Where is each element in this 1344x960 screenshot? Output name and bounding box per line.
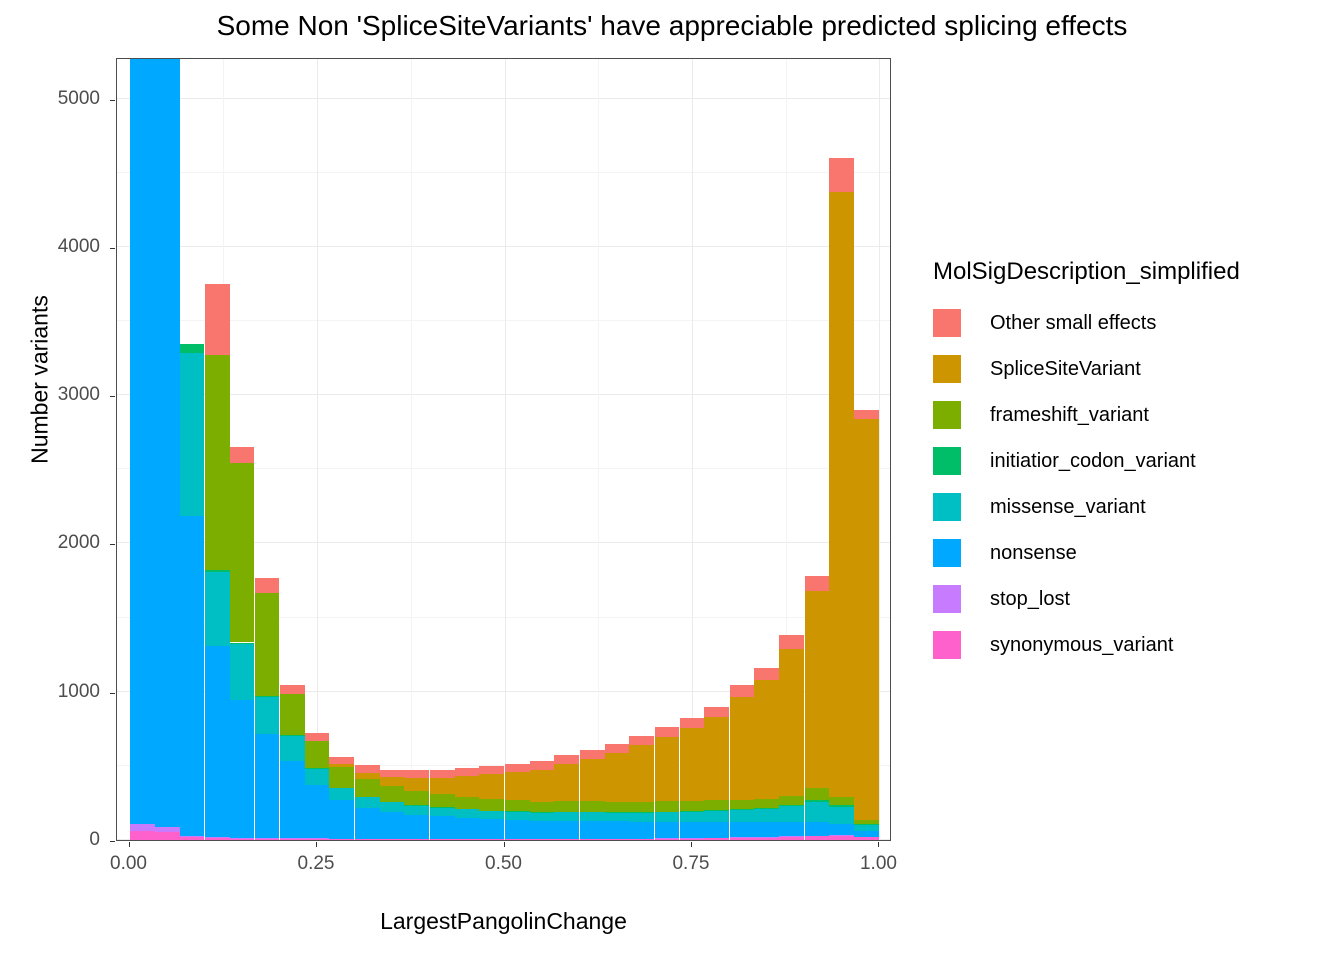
- legend-color-swatch-icon: [933, 493, 961, 521]
- bar-segment-synonymous-variant: [255, 839, 280, 840]
- plot-panel: [116, 58, 891, 841]
- legend-color-swatch-icon: [933, 631, 961, 659]
- bar-segment-stop-lost: [155, 827, 180, 831]
- bar-segment-synonymous-variant: [404, 839, 429, 840]
- bar-segment-synonymous-variant: [180, 837, 205, 840]
- bar-segment-initiatior-codon-variant: [754, 808, 779, 809]
- bar-segment-missense-variant: [205, 572, 230, 646]
- bar-segment-frameshift-variant: [754, 799, 779, 808]
- legend: MolSigDescription_simplified Other small…: [933, 258, 1333, 668]
- bar-segment-other small effects: [305, 733, 330, 742]
- bar-segment-frameshift-variant: [455, 797, 480, 809]
- legend-item[interactable]: stop_lost: [933, 576, 1333, 622]
- bar-segment-missense-variant: [329, 788, 354, 800]
- bar-segment-frameshift-variant: [305, 741, 330, 768]
- y-tick-mark: [110, 100, 115, 101]
- bar-segment-frameshift-variant: [255, 593, 280, 697]
- bar-segment-frameshift-variant: [805, 788, 830, 800]
- bar-segment-splicesitevariant: [554, 764, 579, 801]
- bar-segment-frameshift-variant: [829, 797, 854, 805]
- bar-segment-missense-variant: [255, 697, 280, 734]
- bar-segment-frameshift-variant: [404, 791, 429, 805]
- bar-segment-frameshift-variant: [280, 694, 305, 736]
- bar-segment-missense-variant: [230, 644, 255, 700]
- x-tick-label: 0.00: [89, 853, 169, 875]
- bar-segment-other small effects: [704, 707, 729, 717]
- bar-segment-nonsense: [329, 800, 354, 839]
- histogram-bar: [380, 770, 405, 840]
- bar-segment-other small effects: [779, 635, 804, 650]
- bar-segment-synonymous-variant: [554, 839, 579, 840]
- bar-segment-nonsense: [779, 822, 804, 836]
- bar-segment-missense-variant: [455, 809, 480, 818]
- bar-segment-synonymous-variant: [305, 839, 330, 840]
- bar-segment-nonsense: [730, 822, 755, 838]
- bar-segment-splicesitevariant: [779, 649, 804, 796]
- y-tick-label: 2000: [22, 532, 100, 554]
- bar-segment-synonymous-variant: [530, 839, 555, 840]
- bar-segment-other small effects: [829, 158, 854, 192]
- bar-segment-synonymous-variant: [580, 839, 605, 840]
- histogram-bar: [430, 770, 455, 840]
- bar-segment-synonymous-variant: [205, 838, 230, 840]
- bar-segment-missense-variant: [680, 812, 705, 822]
- bar-segment-frameshift-variant: [605, 802, 630, 812]
- bar-segment-synonymous-variant: [655, 839, 680, 840]
- bar-segment-synonymous-variant: [805, 836, 830, 840]
- bar-segment-missense-variant: [530, 813, 555, 821]
- bar-segment-nonsense: [355, 808, 380, 839]
- bar-segment-frameshift-variant: [430, 794, 455, 807]
- bar-segment-frameshift-variant: [655, 801, 680, 811]
- bar-segment-nonsense: [505, 820, 530, 839]
- bar-segment-other small effects: [380, 770, 405, 777]
- y-tick-label: 0: [22, 829, 100, 851]
- histogram-bar: [530, 761, 555, 840]
- bar-segment-splicesitevariant: [829, 192, 854, 797]
- legend-color-swatch-icon: [933, 539, 961, 567]
- bar-segment-frameshift-variant: [629, 802, 654, 812]
- bar-segment-nonsense: [455, 818, 480, 839]
- bar-segment-missense-variant: [404, 806, 429, 815]
- legend-item-label: initiatior_codon_variant: [990, 450, 1196, 473]
- y-tick-label: 5000: [22, 88, 100, 110]
- bar-segment-other small effects: [505, 764, 530, 772]
- bar-segment-synonymous-variant: [704, 838, 729, 840]
- legend-item[interactable]: missense_variant: [933, 484, 1333, 530]
- legend-item-label: synonymous_variant: [990, 634, 1173, 657]
- legend-item[interactable]: nonsense: [933, 530, 1333, 576]
- bar-segment-frameshift-variant: [704, 800, 729, 809]
- bar-segment-splicesitevariant: [605, 753, 630, 802]
- bar-segment-missense-variant: [829, 807, 854, 825]
- histogram-bar: [554, 755, 579, 840]
- bar-segment-synonymous-variant: [605, 839, 630, 840]
- bar-segment-splicesitevariant: [479, 774, 504, 798]
- y-tick-mark: [110, 396, 115, 397]
- bar-segment-initiatior-codon-variant: [854, 824, 879, 825]
- bar-segment-nonsense: [130, 58, 155, 824]
- bar-segment-splicesitevariant: [805, 591, 830, 788]
- bar-segment-frameshift-variant: [230, 463, 255, 642]
- bar-segment-splicesitevariant: [530, 770, 555, 802]
- bar-segment-splicesitevariant: [455, 776, 480, 797]
- bar-segment-splicesitevariant: [505, 772, 530, 800]
- bar-segment-nonsense: [580, 821, 605, 838]
- bar-segment-other small effects: [655, 727, 680, 737]
- histogram-bar: [779, 635, 804, 840]
- bar-segment-initiatior-codon-variant: [730, 809, 755, 810]
- bar-segment-synonymous-variant: [754, 838, 779, 840]
- bar-segment-initiatior-codon-variant: [805, 800, 830, 801]
- bar-segment-splicesitevariant: [854, 419, 879, 819]
- histogram-bar: [180, 344, 205, 840]
- bar-segment-missense-variant: [854, 825, 879, 831]
- bar-segment-splicesitevariant: [404, 778, 429, 791]
- legend-item-label: frameshift_variant: [990, 404, 1149, 427]
- bar-segment-frameshift-variant: [580, 801, 605, 811]
- histogram-bar: [605, 744, 630, 840]
- bar-segment-missense-variant: [779, 806, 804, 822]
- bar-segment-nonsense: [180, 516, 205, 836]
- x-axis-label: LargestPangolinChange: [116, 908, 891, 935]
- bar-segment-other small effects: [255, 578, 280, 593]
- bar-segment-splicesitevariant: [355, 773, 380, 779]
- bar-segment-nonsense: [280, 761, 305, 838]
- bar-segment-missense-variant: [305, 769, 330, 785]
- bar-segment-other small effects: [530, 761, 555, 770]
- bar-segment-nonsense: [704, 822, 729, 838]
- bar-segment-frameshift-variant: [854, 820, 879, 824]
- bar-segment-missense-variant: [580, 812, 605, 821]
- bar-segment-missense-variant: [380, 802, 405, 812]
- bar-segment-nonsense: [205, 646, 230, 837]
- histogram-bar: [479, 766, 504, 840]
- bar-segment-other small effects: [430, 770, 455, 777]
- bar-segment-frameshift-variant: [505, 800, 530, 811]
- bar-series-container: [117, 59, 890, 840]
- bar-segment-other small effects: [629, 736, 654, 746]
- y-tick-mark: [110, 544, 115, 545]
- bar-segment-frameshift-variant: [205, 355, 230, 570]
- legend-color-swatch-icon: [933, 447, 961, 475]
- legend-items: Other small effectsSpliceSiteVariantfram…: [933, 300, 1333, 668]
- histogram-bar: [255, 578, 280, 840]
- bar-segment-synonymous-variant: [280, 839, 305, 840]
- bar-segment-frameshift-variant: [380, 786, 405, 802]
- bar-segment-other small effects: [805, 576, 830, 591]
- bar-segment-initiatior-codon-variant: [230, 643, 255, 644]
- bar-segment-other small effects: [854, 410, 879, 419]
- bar-segment-nonsense: [829, 824, 854, 834]
- legend-color-swatch-icon: [933, 585, 961, 613]
- bar-segment-other small effects: [680, 718, 705, 728]
- legend-color-swatch-icon: [933, 355, 961, 383]
- bar-segment-synonymous-variant: [155, 832, 180, 840]
- bar-segment-initiatior-codon-variant: [255, 696, 280, 697]
- bar-segment-synonymous-variant: [854, 837, 879, 840]
- x-tick-mark: [878, 842, 879, 847]
- y-tick-mark: [110, 841, 115, 842]
- histogram-bar: [505, 764, 530, 840]
- histogram-bar: [730, 685, 755, 840]
- histogram-bar: [629, 736, 654, 840]
- legend-item-label: Other small effects: [990, 312, 1156, 335]
- bar-segment-nonsense: [754, 822, 779, 837]
- bar-segment-splicesitevariant: [580, 759, 605, 801]
- bar-segment-other small effects: [355, 765, 380, 772]
- bar-segment-other small effects: [554, 755, 579, 764]
- histogram-bar: [205, 284, 230, 840]
- bar-segment-other small effects: [329, 757, 354, 764]
- bar-segment-synonymous-variant: [455, 839, 480, 840]
- y-tick-mark: [110, 248, 115, 249]
- bar-segment-nonsense: [854, 831, 879, 837]
- histogram-bar: [854, 410, 879, 840]
- bar-segment-splicesitevariant: [704, 717, 729, 800]
- legend-item[interactable]: synonymous_variant: [933, 622, 1333, 668]
- bar-segment-synonymous-variant: [329, 839, 354, 840]
- bar-segment-missense-variant: [479, 811, 504, 819]
- bar-segment-splicesitevariant: [430, 778, 455, 794]
- bar-segment-missense-variant: [430, 808, 455, 817]
- histogram-bar: [130, 58, 155, 840]
- legend-item-label: SpliceSiteVariant: [990, 358, 1141, 381]
- bar-segment-synonymous-variant: [779, 837, 804, 840]
- bar-segment-missense-variant: [754, 809, 779, 823]
- bar-segment-synonymous-variant: [430, 839, 455, 840]
- bar-segment-synonymous-variant: [680, 839, 705, 840]
- bar-segment-stop-lost: [829, 835, 854, 836]
- bar-segment-initiatior-codon-variant: [779, 805, 804, 806]
- bar-segment-missense-variant: [505, 812, 530, 820]
- bar-segment-missense-variant: [629, 813, 654, 822]
- bar-segment-missense-variant: [805, 802, 830, 823]
- bar-segment-splicesitevariant: [380, 777, 405, 786]
- bar-segment-nonsense: [805, 822, 830, 835]
- bar-segment-nonsense: [605, 821, 630, 838]
- bar-segment-stop-lost: [130, 824, 155, 831]
- bar-segment-other small effects: [580, 750, 605, 759]
- bar-segment-nonsense: [655, 822, 680, 838]
- bar-segment-synonymous-variant: [380, 839, 405, 840]
- x-tick-label: 0.25: [276, 853, 356, 875]
- bar-segment-other small effects: [730, 685, 755, 697]
- histogram-bar: [305, 733, 330, 841]
- bar-segment-nonsense: [255, 734, 280, 838]
- legend-item[interactable]: initiatior_codon_variant: [933, 438, 1333, 484]
- bar-segment-frameshift-variant: [779, 796, 804, 805]
- bar-segment-synonymous-variant: [829, 836, 854, 840]
- x-tick-label: 1.00: [838, 853, 918, 875]
- bar-segment-synonymous-variant: [230, 839, 255, 840]
- bar-segment-initiatior-codon-variant: [829, 805, 854, 807]
- bar-segment-synonymous-variant: [355, 839, 380, 840]
- bar-segment-nonsense: [380, 812, 405, 839]
- legend-item[interactable]: Other small effects: [933, 300, 1333, 346]
- y-axis-label: Number variants: [27, 250, 54, 510]
- bar-segment-splicesitevariant: [754, 680, 779, 799]
- x-tick-label: 0.50: [464, 853, 544, 875]
- bar-segment-missense-variant: [730, 810, 755, 822]
- legend-item-label: stop_lost: [990, 588, 1070, 611]
- histogram-bar: [580, 750, 605, 840]
- legend-title: MolSigDescription_simplified: [933, 258, 1333, 286]
- histogram-bar: [655, 727, 680, 840]
- histogram-bar: [230, 447, 255, 840]
- histogram-bar: [455, 768, 480, 840]
- x-tick-mark: [691, 842, 692, 847]
- bar-segment-missense-variant: [655, 812, 680, 822]
- histogram-bar: [805, 576, 830, 840]
- bar-segment-other small effects: [455, 768, 480, 776]
- x-tick-label: 0.75: [651, 853, 731, 875]
- bar-segment-nonsense: [430, 816, 455, 838]
- histogram-bar: [704, 707, 729, 840]
- bar-segment-nonsense: [155, 59, 180, 827]
- bar-segment-synonymous-variant: [505, 839, 530, 840]
- histogram-bar: [754, 668, 779, 840]
- bar-segment-missense-variant: [355, 797, 380, 807]
- histogram-bar: [280, 685, 305, 840]
- bar-segment-other small effects: [479, 766, 504, 774]
- bar-segment-missense-variant: [280, 736, 305, 761]
- bar-segment-nonsense: [530, 821, 555, 839]
- bar-segment-frameshift-variant: [680, 801, 705, 811]
- legend-item-label: missense_variant: [990, 496, 1146, 519]
- page-title: Some Non 'SpliceSiteVariants' have appre…: [0, 10, 1344, 42]
- bar-segment-frameshift-variant: [554, 801, 579, 811]
- legend-item[interactable]: SpliceSiteVariant: [933, 346, 1333, 392]
- histogram-bar: [155, 59, 180, 840]
- legend-color-swatch-icon: [933, 401, 961, 429]
- bar-segment-stop-lost: [180, 836, 205, 837]
- bar-segment-synonymous-variant: [629, 839, 654, 840]
- legend-item[interactable]: frameshift_variant: [933, 392, 1333, 438]
- bar-segment-frameshift-variant: [730, 800, 755, 809]
- bar-segment-synonymous-variant: [479, 839, 504, 840]
- bar-segment-other small effects: [754, 668, 779, 681]
- bar-segment-splicesitevariant: [655, 737, 680, 802]
- x-tick-mark: [504, 842, 505, 847]
- histogram-bar: [355, 765, 380, 840]
- bar-segment-nonsense: [554, 821, 579, 839]
- bar-segment-initiatior-codon-variant: [205, 570, 230, 572]
- bar-segment-other small effects: [230, 447, 255, 463]
- bar-segment-nonsense: [305, 785, 330, 838]
- histogram-bar: [329, 757, 354, 840]
- bar-segment-frameshift-variant: [329, 767, 354, 788]
- x-tick-mark: [129, 842, 130, 847]
- bar-segment-missense-variant: [554, 812, 579, 820]
- y-tick-mark: [110, 693, 115, 694]
- bar-segment-splicesitevariant: [730, 697, 755, 799]
- bar-segment-nonsense: [629, 822, 654, 839]
- bar-segment-frameshift-variant: [355, 779, 380, 797]
- histogram-bar: [829, 158, 854, 840]
- bar-segment-other small effects: [605, 744, 630, 753]
- bar-segment-frameshift-variant: [479, 799, 504, 811]
- bar-segment-initiatior-codon-variant: [180, 344, 205, 353]
- bar-segment-nonsense: [230, 700, 255, 838]
- bar-segment-nonsense: [479, 819, 504, 838]
- bar-segment-splicesitevariant: [680, 728, 705, 801]
- bar-segment-splicesitevariant: [329, 764, 354, 767]
- bar-segment-other small effects: [404, 770, 429, 778]
- x-tick-mark: [316, 842, 317, 847]
- bar-segment-frameshift-variant: [530, 802, 555, 812]
- bar-segment-missense-variant: [605, 813, 630, 822]
- legend-color-swatch-icon: [933, 309, 961, 337]
- bar-segment-missense-variant: [180, 353, 205, 516]
- bar-segment-synonymous-variant: [130, 831, 155, 840]
- y-tick-label: 1000: [22, 681, 100, 703]
- histogram-bar: [404, 770, 429, 840]
- histogram-bar: [680, 718, 705, 840]
- bar-segment-synonymous-variant: [730, 838, 755, 840]
- bar-segment-nonsense: [404, 815, 429, 839]
- bar-segment-missense-variant: [704, 811, 729, 822]
- bar-segment-other small effects: [280, 685, 305, 694]
- legend-item-label: nonsense: [990, 542, 1077, 565]
- bar-segment-initiatior-codon-variant: [704, 810, 729, 811]
- bar-segment-other small effects: [205, 284, 230, 355]
- bar-segment-nonsense: [680, 822, 705, 838]
- bar-segment-splicesitevariant: [629, 745, 654, 801]
